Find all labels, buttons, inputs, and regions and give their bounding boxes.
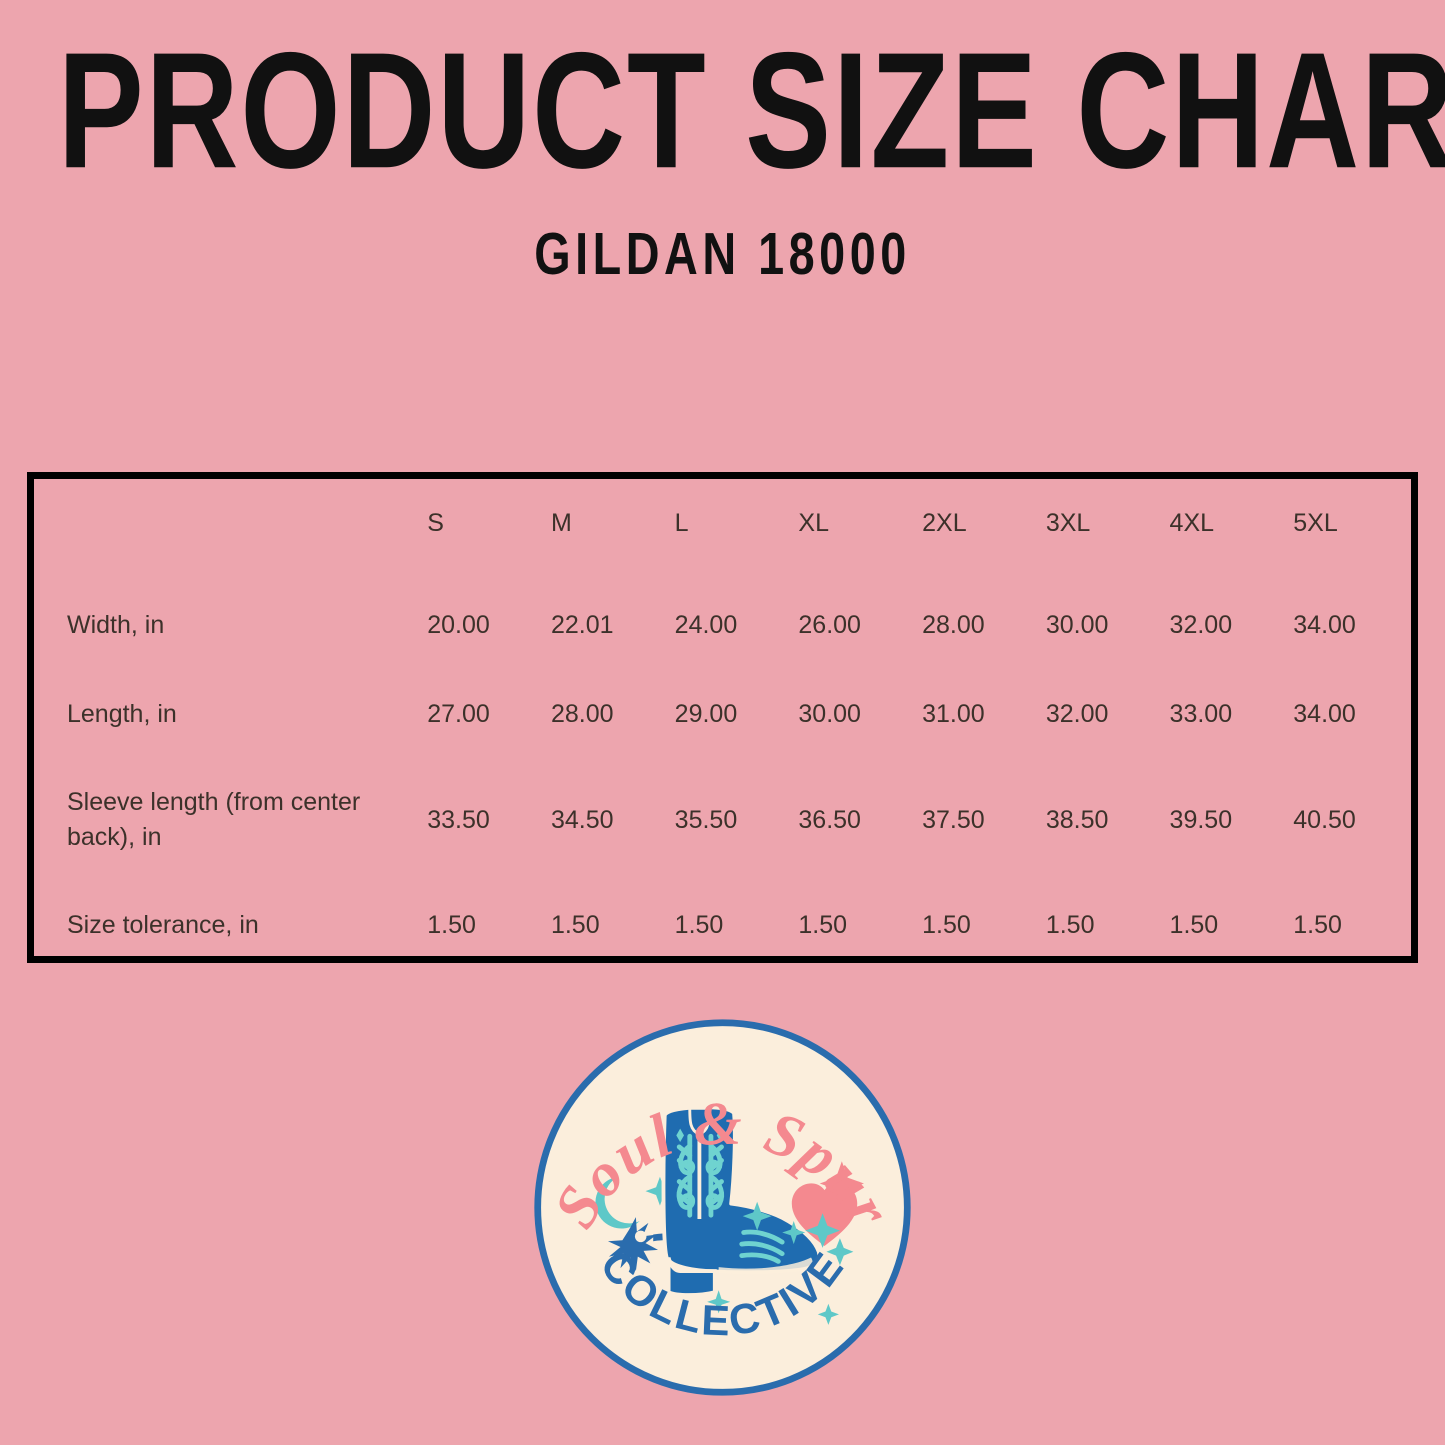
cell-width-s: 20.00 [421, 581, 545, 670]
table-row: Sleeve length (from center back), in 33.… [34, 759, 1411, 881]
cell-tolerance-4xl: 1.50 [1164, 881, 1288, 970]
cell-length-3xl: 32.00 [1040, 670, 1164, 759]
column-header-s: S [421, 479, 545, 581]
size-chart-table: S M L XL 2XL 3XL 4XL 5XL Width, in 20.00… [34, 479, 1411, 970]
cell-sleeve-3xl: 38.50 [1040, 759, 1164, 881]
cell-length-xl: 30.00 [792, 670, 916, 759]
page-subtitle: GILDAN 18000 [72, 220, 1373, 289]
column-header-5xl: 5XL [1287, 479, 1411, 581]
cell-sleeve-2xl: 37.50 [916, 759, 1040, 881]
table-header: S M L XL 2XL 3XL 4XL 5XL [34, 479, 1411, 581]
page-header: PRODUCT SIZE CHART GILDAN 18000 [0, 0, 1445, 280]
cell-tolerance-xl: 1.50 [792, 881, 916, 970]
cell-tolerance-5xl: 1.50 [1287, 881, 1411, 970]
column-header-3xl: 3XL [1040, 479, 1164, 581]
table-row: Width, in 20.00 22.01 24.00 26.00 28.00 … [34, 581, 1411, 670]
cell-width-m: 22.01 [545, 581, 669, 670]
column-header-xl: XL [792, 479, 916, 581]
cell-length-s: 27.00 [421, 670, 545, 759]
cell-sleeve-5xl: 40.50 [1287, 759, 1411, 881]
cell-length-l: 29.00 [669, 670, 793, 759]
cell-width-3xl: 30.00 [1040, 581, 1164, 670]
column-header-l: L [669, 479, 793, 581]
cell-tolerance-s: 1.50 [421, 881, 545, 970]
column-header-m: M [545, 479, 669, 581]
cell-tolerance-3xl: 1.50 [1040, 881, 1164, 970]
cell-width-l: 24.00 [669, 581, 793, 670]
cell-tolerance-m: 1.50 [545, 881, 669, 970]
cell-length-5xl: 34.00 [1287, 670, 1411, 759]
cell-sleeve-l: 35.50 [669, 759, 793, 881]
cell-length-4xl: 33.00 [1164, 670, 1288, 759]
row-label-length: Length, in [34, 670, 421, 759]
brand-logo: Soul & Spur COLLECTIVE [530, 1015, 915, 1400]
column-header-4xl: 4XL [1164, 479, 1288, 581]
cell-tolerance-2xl: 1.50 [916, 881, 1040, 970]
cell-sleeve-xl: 36.50 [792, 759, 916, 881]
table-body: Width, in 20.00 22.01 24.00 26.00 28.00 … [34, 581, 1411, 970]
table-row: Length, in 27.00 28.00 29.00 30.00 31.00… [34, 670, 1411, 759]
cell-length-2xl: 31.00 [916, 670, 1040, 759]
cell-width-4xl: 32.00 [1164, 581, 1288, 670]
row-label-sleeve-length-text: Sleeve length (from center back), in [67, 785, 387, 856]
cell-sleeve-s: 33.50 [421, 759, 545, 881]
cell-width-2xl: 28.00 [916, 581, 1040, 670]
row-label-width: Width, in [34, 581, 421, 670]
page-title: PRODUCT SIZE CHART [58, 28, 1387, 193]
cell-length-m: 28.00 [545, 670, 669, 759]
cell-sleeve-4xl: 39.50 [1164, 759, 1288, 881]
cell-sleeve-m: 34.50 [545, 759, 669, 881]
row-label-size-tolerance: Size tolerance, in [34, 881, 421, 970]
column-header-2xl: 2XL [916, 479, 1040, 581]
size-chart-table-container: S M L XL 2XL 3XL 4XL 5XL Width, in 20.00… [27, 472, 1418, 963]
table-row: Size tolerance, in 1.50 1.50 1.50 1.50 1… [34, 881, 1411, 970]
cell-tolerance-l: 1.50 [669, 881, 793, 970]
cell-width-5xl: 34.00 [1287, 581, 1411, 670]
column-header-measurement [34, 479, 421, 581]
cell-width-xl: 26.00 [792, 581, 916, 670]
row-label-sleeve-length: Sleeve length (from center back), in [34, 759, 421, 881]
table-header-row: S M L XL 2XL 3XL 4XL 5XL [34, 479, 1411, 581]
